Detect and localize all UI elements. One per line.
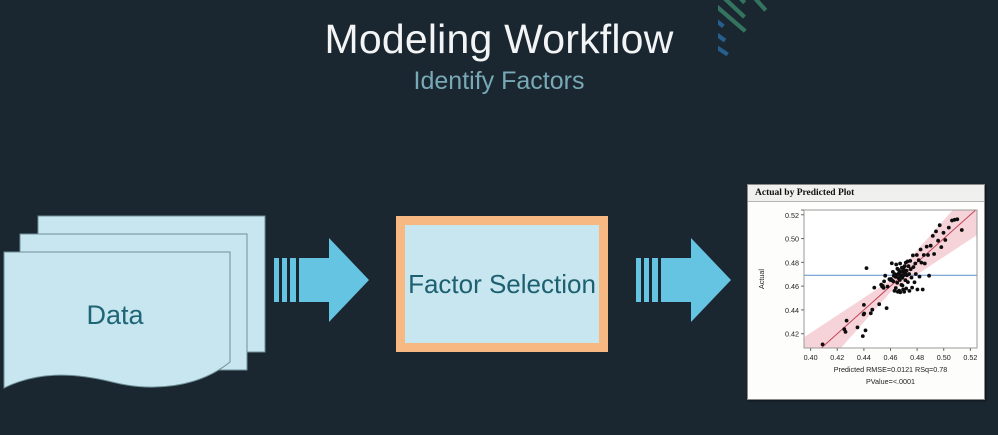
svg-text:0.46: 0.46 (785, 282, 799, 291)
flow-arrow-2 (634, 236, 734, 324)
right-arrow-icon (272, 236, 372, 324)
svg-text:0.40: 0.40 (804, 353, 818, 362)
right-arrow-icon (634, 236, 734, 324)
svg-text:0.42: 0.42 (830, 353, 844, 362)
svg-text:0.48: 0.48 (910, 353, 924, 362)
page-subtitle: Identify Factors (0, 67, 998, 96)
chart-title: Actual by Predicted Plot (755, 188, 854, 198)
title-block: Modeling Workflow Identify Factors (0, 16, 998, 96)
svg-text:0.44: 0.44 (785, 306, 799, 315)
svg-text:0.52: 0.52 (785, 211, 799, 220)
svg-text:0.52: 0.52 (963, 353, 977, 362)
output-node-chart-panel[interactable]: Actual by Predicted Plot 0.420.440.460.4… (747, 184, 985, 400)
svg-text:0.46: 0.46 (884, 353, 898, 362)
svg-text:0.44: 0.44 (857, 353, 871, 362)
svg-text:0.42: 0.42 (785, 330, 799, 339)
chart-titlebar: Actual by Predicted Plot (748, 185, 984, 202)
process-node-label: Factor Selection (408, 271, 596, 297)
chart-plot-area: 0.420.440.460.480.500.520.400.420.440.46… (748, 202, 984, 400)
svg-text:PValue=<.0001: PValue=<.0001 (866, 377, 915, 386)
svg-text:0.50: 0.50 (785, 235, 799, 244)
svg-text:Actual: Actual (757, 269, 766, 289)
svg-text:0.50: 0.50 (937, 353, 951, 362)
data-node-label: Data (0, 300, 230, 331)
page-title: Modeling Workflow (0, 16, 998, 63)
svg-text:0.48: 0.48 (785, 258, 799, 267)
actual-by-predicted-scatter: 0.420.440.460.480.500.520.400.420.440.46… (748, 202, 984, 400)
svg-text:Predicted RMSE=0.0121 RSq=0.78: Predicted RMSE=0.0121 RSq=0.78 (834, 365, 947, 374)
process-node-factor-selection[interactable]: Factor Selection (396, 216, 608, 352)
flow-arrow-1 (272, 236, 372, 324)
